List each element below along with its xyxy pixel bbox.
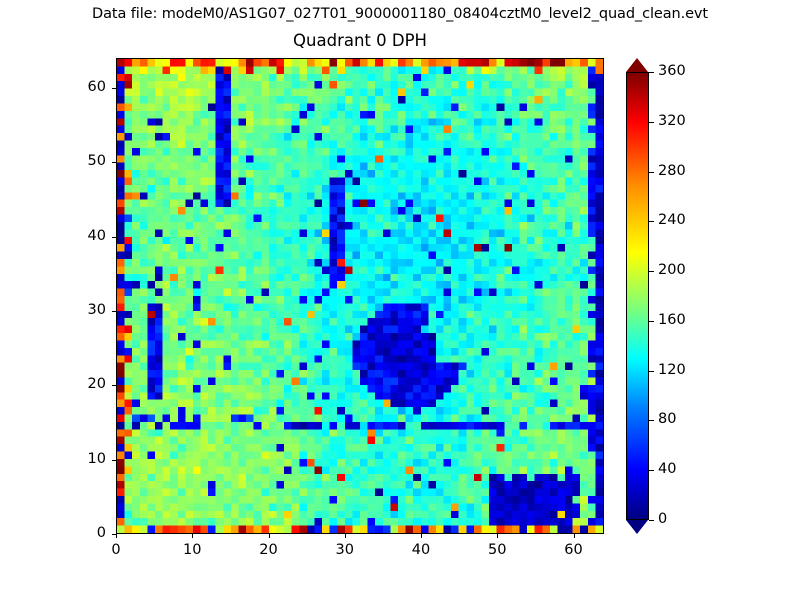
y-tick-label: 60 xyxy=(64,79,106,95)
colorbar-tick-label: 120 xyxy=(658,362,686,378)
y-tick-mark xyxy=(112,311,116,312)
colorbar-tick-mark xyxy=(649,172,654,173)
x-tick-label: 40 xyxy=(401,542,441,558)
colorbar-body[interactable] xyxy=(626,72,649,520)
colorbar-tick-mark xyxy=(649,72,654,73)
x-tick-mark xyxy=(421,534,422,538)
x-tick-mark xyxy=(192,534,193,538)
colorbar-tick-mark xyxy=(649,520,654,521)
colorbar-tick-mark xyxy=(649,321,654,322)
y-tick-mark xyxy=(112,88,116,89)
colorbar-tick-label: 360 xyxy=(658,63,686,79)
colorbar-tick-label: 80 xyxy=(658,411,676,427)
x-tick-label: 10 xyxy=(172,542,212,558)
y-tick-mark xyxy=(112,534,116,535)
x-tick-label: 30 xyxy=(325,542,365,558)
dph-heatmap-image[interactable] xyxy=(117,59,603,533)
y-tick-label: 30 xyxy=(64,302,106,318)
y-tick-mark xyxy=(112,237,116,238)
colorbar-tick-mark xyxy=(649,371,654,372)
y-tick-label: 20 xyxy=(64,376,106,392)
x-tick-label: 50 xyxy=(477,542,517,558)
colorbar-tick-label: 240 xyxy=(658,212,686,228)
heatmap-axes[interactable] xyxy=(116,58,604,534)
y-tick-label: 10 xyxy=(64,451,106,467)
x-tick-label: 0 xyxy=(96,542,136,558)
colorbar-tick-label: 0 xyxy=(658,511,667,527)
colorbar-tick-label: 200 xyxy=(658,262,686,278)
y-tick-mark xyxy=(112,162,116,163)
colorbar[interactable]: 04080120160200240280320360 xyxy=(626,58,649,534)
colorbar-tick-label: 320 xyxy=(658,113,686,129)
colorbar-tick-mark xyxy=(649,122,654,123)
colorbar-tick-mark xyxy=(649,470,654,471)
page-title: Quadrant 0 DPH xyxy=(116,31,604,50)
y-tick-label: 50 xyxy=(64,153,106,169)
y-tick-label: 40 xyxy=(64,228,106,244)
colorbar-tick-mark xyxy=(649,271,654,272)
colorbar-gradient xyxy=(627,73,648,519)
x-tick-mark xyxy=(269,534,270,538)
colorbar-extend-bottom-icon xyxy=(626,520,648,534)
y-tick-mark xyxy=(112,460,116,461)
x-tick-mark xyxy=(116,534,117,538)
x-tick-mark xyxy=(497,534,498,538)
colorbar-tick-label: 280 xyxy=(658,163,686,179)
colorbar-extend-top-icon xyxy=(626,58,648,72)
data-file-suptitle: Data file: modeM0/AS1G07_027T01_90000011… xyxy=(0,6,800,22)
colorbar-tick-mark xyxy=(649,420,654,421)
colorbar-tick-label: 40 xyxy=(658,461,676,477)
x-tick-label: 60 xyxy=(554,542,594,558)
colorbar-tick-mark xyxy=(649,221,654,222)
y-tick-label: 0 xyxy=(64,525,106,541)
colorbar-tick-label: 160 xyxy=(658,312,686,328)
y-tick-mark xyxy=(112,385,116,386)
figure-canvas: Data file: modeM0/AS1G07_027T01_90000011… xyxy=(0,0,800,600)
x-tick-mark xyxy=(574,534,575,538)
x-tick-label: 20 xyxy=(249,542,289,558)
x-tick-mark xyxy=(345,534,346,538)
